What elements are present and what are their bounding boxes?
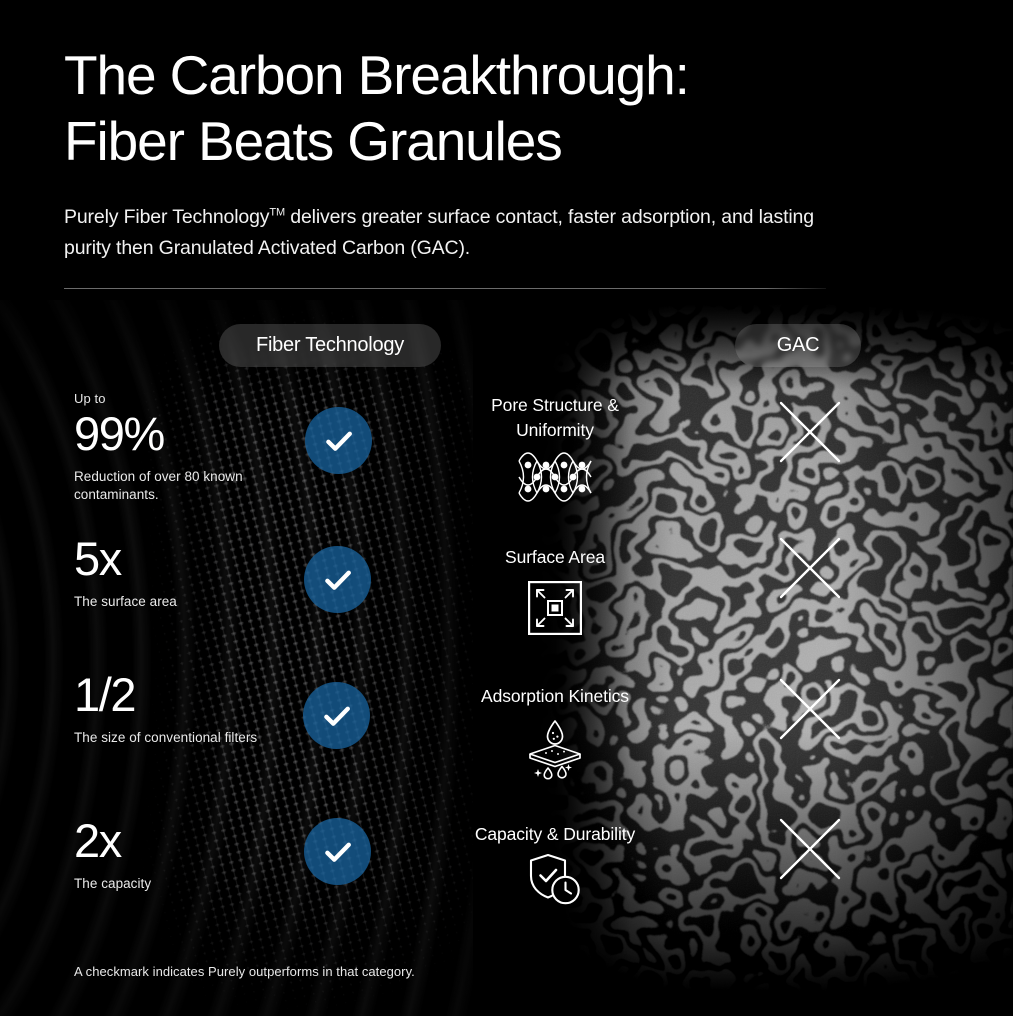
row-label: Capacity & Durability xyxy=(390,822,720,847)
row-icon-adsorption-kinetics xyxy=(390,718,720,780)
page-title: The Carbon Breakthrough: Fiber Beats Gra… xyxy=(64,42,884,174)
row-label: Surface Area xyxy=(390,545,720,570)
expand-square-icon xyxy=(528,581,582,635)
page-subtitle: Purely Fiber TechnologyTM delivers great… xyxy=(64,202,854,264)
row-label: Adsorption Kinetics xyxy=(390,684,720,709)
fiber-check-badge xyxy=(304,546,371,613)
row-label: Pore Structure & Uniformity xyxy=(390,393,720,443)
metric-value: 2x xyxy=(74,814,279,868)
check-icon xyxy=(320,699,354,733)
page-header: The Carbon Breakthrough: Fiber Beats Gra… xyxy=(64,42,884,264)
metric-value: 99% xyxy=(74,407,279,461)
metric-description: The surface area xyxy=(74,593,279,611)
gac-x-badge xyxy=(774,532,846,604)
footnote: A checkmark indicates Purely outperforms… xyxy=(74,964,415,979)
metric-value: 1/2 xyxy=(74,668,279,722)
shield-check-clock-icon xyxy=(527,853,583,907)
x-icon xyxy=(774,396,846,468)
x-icon xyxy=(774,813,846,885)
column-header-gac-label: GAC xyxy=(777,334,820,357)
metric-item: 1/2 The size of conventional filters xyxy=(74,668,279,747)
column-header-fiber-label: Fiber Technology xyxy=(256,334,404,357)
check-icon xyxy=(321,835,355,869)
row-icon-capacity-durability xyxy=(390,853,720,907)
check-icon xyxy=(322,424,356,458)
header-divider xyxy=(64,288,826,289)
lattice-mesh-icon xyxy=(517,452,593,502)
gac-x-badge xyxy=(774,396,846,468)
subtitle-text-lead: Purely Fiber Technology xyxy=(64,206,269,228)
x-icon xyxy=(774,673,846,745)
metric-item: Up to 99% Reduction of over 80 known con… xyxy=(74,390,279,504)
metric-value: 5x xyxy=(74,532,279,586)
row-icon-surface-area xyxy=(390,581,720,635)
metric-description: The capacity xyxy=(74,875,279,893)
metric-eyebrow: Up to xyxy=(74,390,279,407)
fiber-check-badge xyxy=(303,682,370,749)
comparison-panel: Fiber Technology GAC Up to 99% Reduction… xyxy=(0,300,1013,1016)
metric-description: The size of conventional filters xyxy=(74,729,279,747)
gac-x-badge xyxy=(774,673,846,745)
metric-item: 2x The capacity xyxy=(74,814,279,893)
column-header-fiber[interactable]: Fiber Technology xyxy=(219,324,441,367)
gac-x-badge xyxy=(774,813,846,885)
row-icon-pore-structure xyxy=(390,452,720,502)
metric-description: Reduction of over 80 known contaminants. xyxy=(74,468,279,504)
column-header-gac[interactable]: GAC xyxy=(735,324,861,367)
fiber-check-badge xyxy=(304,818,371,885)
check-icon xyxy=(321,563,355,597)
x-icon xyxy=(774,532,846,604)
trademark-symbol: TM xyxy=(269,207,285,219)
fiber-check-badge xyxy=(305,407,372,474)
metric-item: 5x The surface area xyxy=(74,532,279,611)
water-droplet-filter-icon xyxy=(524,718,586,780)
